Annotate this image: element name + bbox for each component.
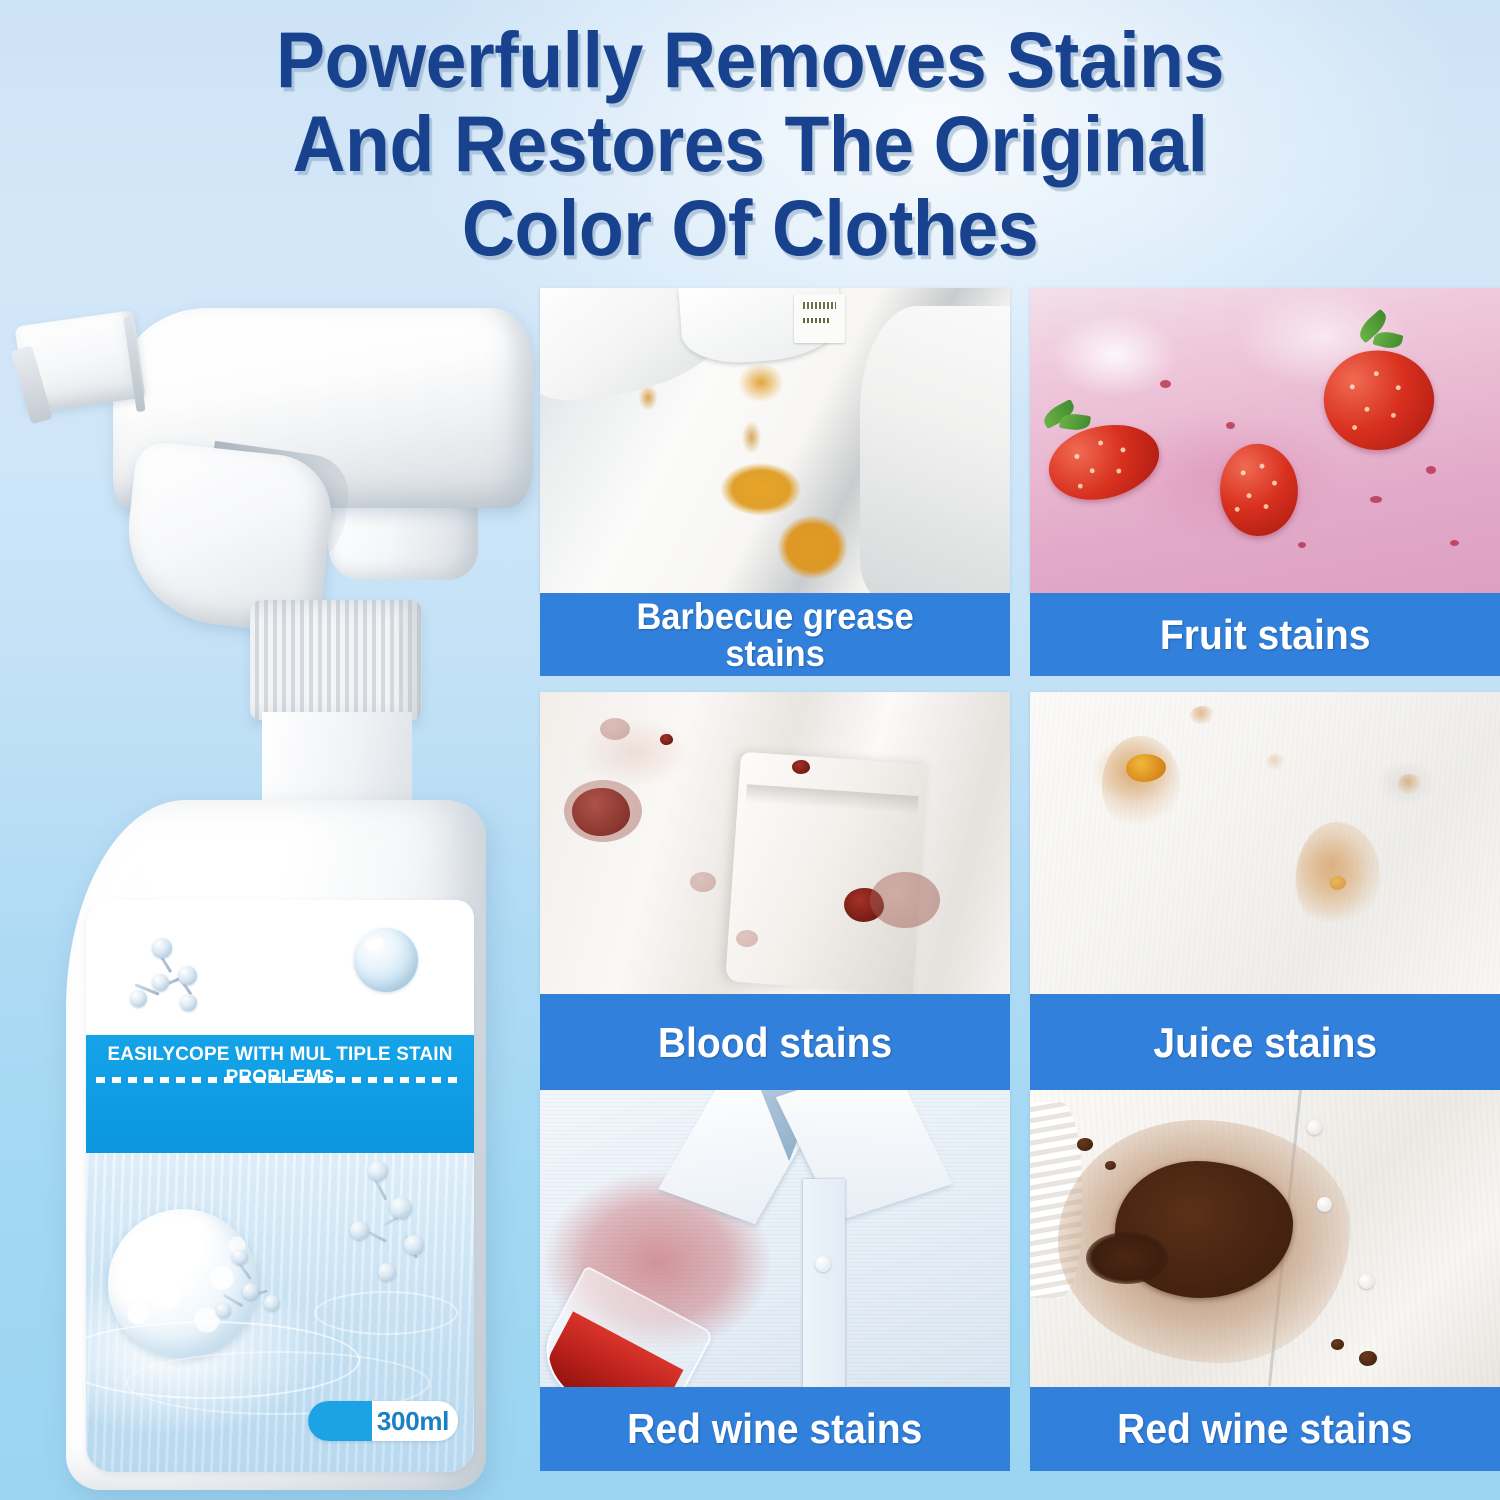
molecule-icon — [130, 936, 220, 1016]
stain-cell-redwine-glass[interactable]: Red wine stains — [540, 1090, 1010, 1471]
stain-photo-redwine-spill — [1030, 1090, 1500, 1387]
product-bottle: EASILYCOPE WITH MUL TIPLE STAIN PROBLEMS — [18, 300, 528, 1490]
stain-photo-barbecue — [540, 288, 1010, 593]
stain-caption-blood: Blood stains — [540, 994, 1010, 1092]
label-top-white-area — [86, 900, 474, 1035]
promo-image-root: Powerfully Removes Stains And Restores T… — [0, 0, 1500, 1500]
volume-badge-label: 300ml — [372, 1406, 458, 1437]
wine-glass — [540, 1265, 715, 1387]
strawberry — [1316, 341, 1442, 459]
stain-caption-barbecue: Barbecue grease stains — [540, 593, 1010, 676]
blood-splatter — [564, 780, 642, 842]
shirt-button — [1317, 1197, 1332, 1212]
blood-spot — [792, 760, 810, 774]
stain-photo-fruit — [1030, 288, 1500, 593]
spill-droplet — [1331, 1339, 1344, 1350]
scene-molecule-mid — [216, 1249, 306, 1339]
spill-droplet — [1077, 1138, 1093, 1151]
strawberry — [1217, 441, 1301, 538]
blood-spot — [660, 734, 673, 745]
stain-caption-redwine-glass: Red wine stains — [540, 1387, 1010, 1471]
stain-caption-juice: Juice stains — [1030, 994, 1500, 1092]
shirt-brand-tag — [794, 294, 846, 343]
shirt-button — [1307, 1120, 1322, 1135]
juice-stain-halo — [1266, 754, 1286, 770]
blood-splatter — [736, 930, 758, 947]
volume-badge: 300ml — [308, 1401, 458, 1441]
blood-splatter — [870, 872, 940, 928]
stain-photo-redwine-glass — [540, 1090, 1010, 1387]
shirt-placket — [803, 1179, 845, 1387]
page-title: Powerfully Removes Stains And Restores T… — [53, 18, 1448, 270]
scene-molecule-top — [338, 1159, 458, 1289]
product-label: EASILYCOPE WITH MUL TIPLE STAIN PROBLEMS — [86, 900, 474, 1472]
label-dashed-rule — [96, 1077, 464, 1083]
volume-badge-fill — [308, 1401, 372, 1441]
stain-photo-juice — [1030, 692, 1500, 994]
stain-cell-blood[interactable]: Blood stains — [540, 692, 1010, 1092]
stain-caption-fruit: Fruit stains — [1030, 593, 1500, 676]
label-blue-band: EASILYCOPE WITH MUL TIPLE STAIN PROBLEMS — [86, 1035, 474, 1153]
juice-stain-halo — [1102, 736, 1180, 832]
juice-stain-halo — [1190, 706, 1216, 724]
ribbed-collar — [250, 600, 422, 720]
spill-droplet — [1359, 1351, 1377, 1366]
stain-cell-barbecue[interactable]: Barbecue grease stains — [540, 288, 1010, 676]
label-water-scene: 300ml — [86, 1153, 474, 1472]
blood-splatter — [690, 872, 716, 892]
stain-photo-blood — [540, 692, 1010, 994]
juice-stain-halo — [1398, 774, 1422, 794]
blood-splatter — [600, 718, 630, 740]
stain-photo-grid: Barbecue grease stains Fruit st — [540, 288, 1500, 1468]
shirt-button — [1359, 1274, 1374, 1289]
wine-liquid — [540, 1312, 683, 1387]
water-droplet-icon — [354, 928, 418, 992]
stain-cell-fruit[interactable]: Fruit stains — [1030, 288, 1500, 676]
stain-caption-redwine-spill: Red wine stains — [1030, 1387, 1500, 1471]
stain-cell-juice[interactable]: Juice stains — [1030, 692, 1500, 1092]
stain-cell-redwine-spill[interactable]: Red wine stains — [1030, 1090, 1500, 1471]
nozzle-tip — [11, 345, 53, 424]
